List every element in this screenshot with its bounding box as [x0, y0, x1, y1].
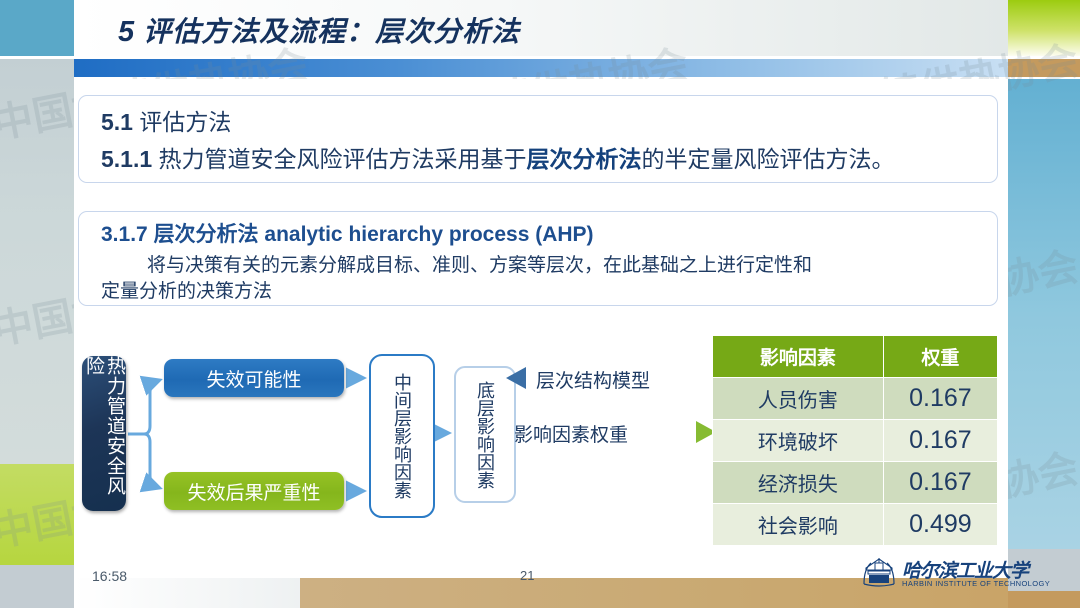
left-edge-bottom-block	[0, 565, 74, 608]
panel-evaluation-method: 5.1 评估方法 5.1.1 热力管道安全风险评估方法采用基于层次分析法的半定量…	[78, 95, 998, 183]
table-header-weight: 权重	[883, 336, 997, 378]
node-middle-layer-label: 中间层影响因素	[371, 356, 433, 516]
left-edge-green-block	[0, 464, 74, 565]
table-header-row: 影响因素 权重	[713, 336, 998, 378]
triangle-left-icon	[506, 367, 526, 389]
table-cell-weight: 0.167	[883, 420, 997, 462]
node-failure-possibility: 失效可能性	[164, 359, 344, 397]
title-underline-bar	[74, 59, 1008, 77]
section-5-1-1-text-pre: 热力管道安全风险评估方法采用基于	[159, 146, 527, 172]
footer-time: 16:58	[92, 568, 127, 584]
table-row: 环境破坏 0.167	[713, 420, 998, 462]
table-cell-factor: 社会影响	[713, 504, 884, 546]
ahp-definition-line-2: 定量分析的决策方法	[101, 281, 272, 302]
node-root-label: 热力管道安全风险	[82, 356, 126, 511]
ahp-highlight-term: 层次分析法	[527, 146, 642, 172]
left-edge-top-block	[0, 0, 74, 56]
node-middle-layer: 中间层影响因素	[369, 354, 435, 518]
section-5-1-1-number: 5.1.1	[101, 146, 152, 172]
section-5-1-number: 5.1	[101, 109, 133, 135]
table-row: 人员伤害 0.167	[713, 378, 998, 420]
table-cell-weight: 0.167	[883, 378, 997, 420]
ahp-heading: 3.1.7 层次分析法 analytic hierarchy process (…	[101, 218, 594, 248]
ahp-definition-line-1: 将与决策有关的元素分解成目标、准则、方案等层次，在此基础之上进行定性和	[101, 253, 981, 279]
table-cell-factor: 环境破坏	[713, 420, 884, 462]
top-right-tan-strip	[1008, 59, 1080, 77]
section-5-1-line: 5.1 评估方法	[101, 103, 231, 137]
node-failure-possibility-label: 失效可能性	[164, 359, 344, 397]
right-edge-blue-block	[1008, 79, 1080, 549]
legend-factor-weight: 影响因素权重	[514, 420, 628, 447]
ahp-heading-cn: 层次分析法	[154, 223, 259, 246]
section-5-1-1-line: 5.1.1 热力管道安全风险评估方法采用基于层次分析法的半定量风险评估方法。	[101, 140, 895, 174]
hierarchy-flow-diagram: 热力管道安全风险 失效可能性 失效后果严重性 中间层影响因素 底层影响因素 层次…	[74, 334, 714, 534]
panel-ahp-definition: 3.1.7 层次分析法 analytic hierarchy process (…	[78, 211, 998, 306]
table-row: 社会影响 0.499	[713, 504, 998, 546]
section-5-1-text: 评估方法	[139, 109, 231, 135]
table-header-factor: 影响因素	[713, 336, 884, 378]
page-title-text: 评估方法及流程：层次分析法	[143, 17, 520, 48]
slide-content: 5.1 评估方法 5.1.1 热力管道安全风险评估方法采用基于层次分析法的半定量…	[74, 79, 1008, 549]
ahp-heading-number: 3.1.7	[101, 223, 148, 246]
table-cell-weight: 0.167	[883, 462, 997, 504]
logo-name-en: HARBIN INSTITUTE OF TECHNOLOGY	[902, 579, 1050, 588]
table-cell-factor: 经济损失	[713, 462, 884, 504]
legend-structure-model: 层次结构模型	[536, 366, 650, 393]
node-failure-consequence: 失效后果严重性	[164, 472, 344, 510]
ahp-heading-en: analytic hierarchy process (AHP)	[264, 223, 593, 246]
node-failure-consequence-label: 失效后果严重性	[164, 472, 344, 510]
ahp-definition-body: 将与决策有关的元素分解成目标、准则、方案等层次，在此基础之上进行定性和 定量分析…	[101, 253, 981, 305]
table-row: 经济损失 0.167	[713, 462, 998, 504]
page-title: 5 评估方法及流程：层次分析法	[118, 10, 520, 50]
hit-emblem-icon	[862, 557, 896, 587]
university-logo: 哈尔滨工业大学 HARBIN INSTITUTE OF TECHNOLOGY	[862, 556, 1002, 592]
node-root-risk: 热力管道安全风险	[82, 356, 126, 511]
footer-page-number: 21	[520, 568, 534, 583]
page-title-number: 5	[118, 16, 135, 48]
factor-weight-table: 影响因素 权重 人员伤害 0.167 环境破坏 0.167 经济损失 0.167	[712, 335, 998, 546]
slide: 中国城镇供热协会 中国城镇供热协会 中国城镇供热协会 中国城镇供热协会 中国城镇…	[0, 0, 1080, 608]
table-cell-factor: 人员伤害	[713, 378, 884, 420]
left-edge-body-block	[0, 59, 74, 464]
section-5-1-1-text-post: 的半定量风险评估方法。	[642, 146, 895, 172]
top-right-green-block	[1008, 0, 1080, 56]
right-edge-tan-block	[1008, 591, 1080, 608]
table-cell-weight: 0.499	[883, 504, 997, 546]
